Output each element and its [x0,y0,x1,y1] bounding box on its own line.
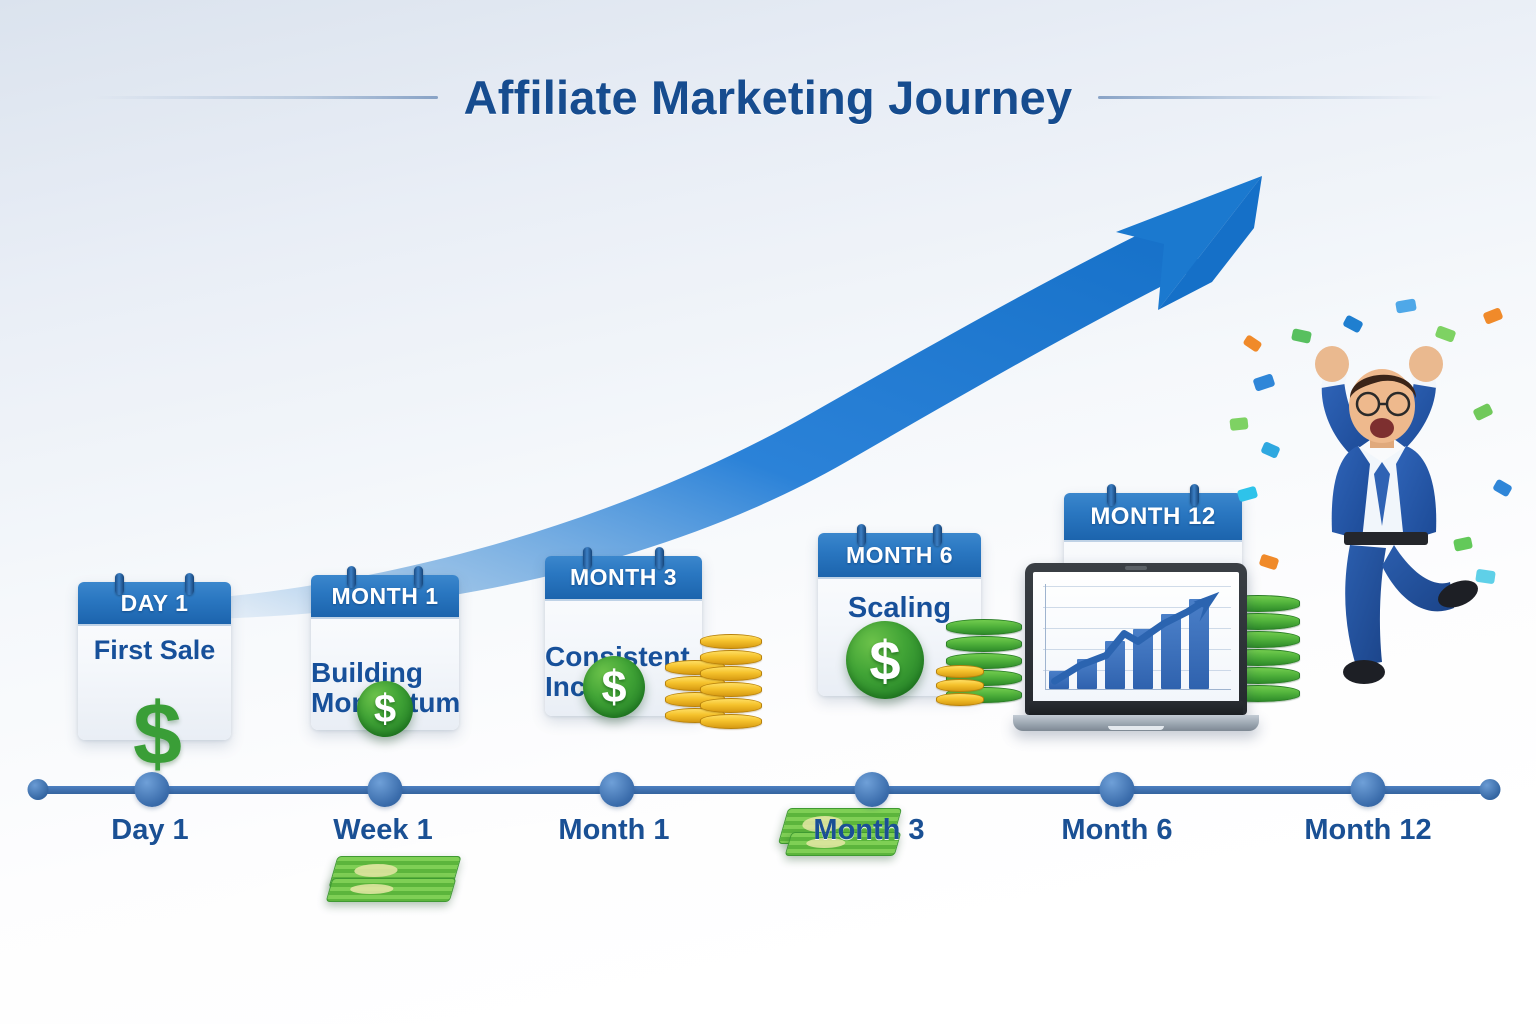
laptop-screen [1033,572,1239,705]
timeline: Day 1 Week 1 Month 1 Month 3 Month 6 Mon… [0,770,1536,890]
laptop-trackpad [1108,726,1164,730]
calendar-ring-icon [583,547,592,569]
celebration-group [1236,288,1526,688]
milestone-card-month-1[interactable]: MONTH 1 Building Momentum $ [311,575,459,786]
calendar-ring-icon [115,573,124,595]
laptop-lid [1025,563,1247,715]
trend-arrow-icon [1033,572,1239,705]
infographic-canvas: Affiliate Marketing Journey DAY 1 First … [0,0,1536,1024]
calendar-ring-icon [414,566,423,588]
milestone-header: MONTH 12 [1064,493,1242,542]
laptop-device [1025,563,1259,731]
milestone-header: MONTH 1 [311,575,459,619]
timeline-dot-day-1[interactable] [135,772,170,807]
milestone-body-line: Building [311,658,423,687]
milestone-header: MONTH 3 [545,556,702,601]
timeline-dot-month-3[interactable] [855,772,890,807]
timeline-label-month-12: Month 12 [1304,814,1431,847]
milestone-header: MONTH 6 [818,533,981,579]
calendar-ring-icon [857,524,866,546]
laptop-keyboard [1029,701,1243,715]
timeline-dot-month-12[interactable] [1351,772,1386,807]
calendar-ring-icon [933,524,942,546]
confetti-piece [1229,417,1248,431]
milestone-header: DAY 1 [78,582,231,626]
timeline-dot-week-1[interactable] [368,772,403,807]
confetti-piece [1395,298,1417,313]
timeline-dot-month-1[interactable] [600,772,635,807]
timeline-label-month-1: Month 1 [558,814,669,847]
milestone-card-day-1[interactable]: DAY 1 First Sale $ [78,582,231,740]
title-rule-left [93,96,438,99]
celebrating-person-illustration [1258,336,1508,686]
calendar-ring-icon [655,547,664,569]
milestone-card-month-6[interactable]: MONTH 6 Scaling $ [818,533,981,756]
title-rule-right [1098,96,1443,99]
milestone-card-month-3[interactable]: MONTH 3 Consistent Income $ [545,556,702,716]
timeline-end-cap [1480,779,1501,800]
dollar-coin-icon: $ [357,681,413,737]
laptop-base [1013,715,1259,731]
calendar-ring-icon [1190,484,1199,506]
timeline-label-month-6: Month 6 [1061,814,1172,847]
dollar-coin-icon: $ [583,656,645,718]
calendar-ring-icon [1107,484,1116,506]
timeline-start-cap [28,779,49,800]
gold-coin-stack-icon [936,665,984,706]
laptop-camera-icon [1125,566,1147,570]
calendar-ring-icon [185,573,194,595]
timeline-label-week-1: Week 1 [333,814,432,847]
timeline-axis [38,786,1490,794]
calendar-ring-icon [347,566,356,588]
confetti-piece [1342,314,1364,333]
timeline-label-day-1: Day 1 [111,814,188,847]
confetti-piece [1237,486,1259,503]
page-title: Affiliate Marketing Journey [464,70,1073,125]
timeline-dot-month-6[interactable] [1100,772,1135,807]
dollar-coin-icon: $ [846,621,924,699]
gold-coin-stack-icon [700,634,762,729]
dollar-sign-icon: $ [133,690,182,778]
confetti-piece [1482,307,1503,325]
title-row: Affiliate Marketing Journey [0,62,1536,132]
timeline-label-month-3: Month 3 [813,814,924,847]
